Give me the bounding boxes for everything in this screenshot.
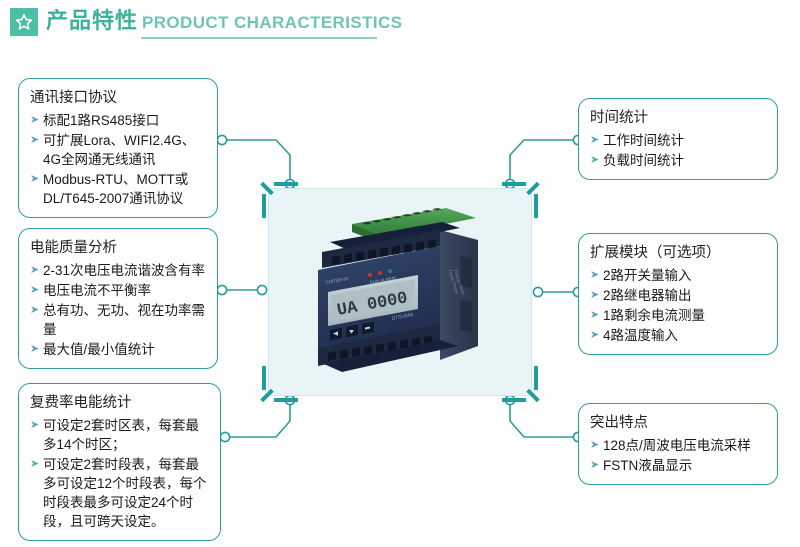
bullet-arrow-icon: ➤ [30, 131, 41, 150]
product-image-din-rail-energy-meter: compere RUN ALARM UA 0000 DTSU666 [300, 196, 500, 386]
bullet-item: ➤ 2-31次电压电流谐波含有率 [30, 261, 207, 280]
bullet-text: 4路温度输入 [603, 326, 767, 345]
bullet-item: ➤ 工作时间统计 [590, 131, 767, 150]
bullet-item: ➤ 最大值/最小值统计 [30, 340, 207, 359]
card-communication-protocol: 通讯接口协议 ➤ 标配1路RS485接口 ➤ 可扩展Lora、WIFI2.4G、… [18, 78, 218, 218]
card-title: 电能质量分析 [30, 238, 207, 259]
bullet-arrow-icon: ➤ [590, 456, 601, 475]
bullet-text: 128点/周波电压电流采样 [603, 436, 767, 455]
frame-corner-top-right [504, 182, 538, 216]
bullet-item: ➤ 可设定2套时段表，每套最多可设定12个时段表，每个时段表最多可设定24个时段… [30, 455, 210, 531]
bullet-text: 最大值/最小值统计 [43, 340, 207, 359]
bullet-arrow-icon: ➤ [590, 266, 601, 285]
bullet-item: ➤ 2路继电器输出 [590, 286, 767, 305]
bullet-arrow-icon: ➤ [30, 261, 41, 280]
card-expansion-module: 扩展模块（可选项） ➤ 2路开关量输入 ➤ 2路继电器输出 ➤ 1路剩余电流测量… [578, 233, 778, 355]
card-title: 复费率电能统计 [30, 393, 210, 414]
connector-node [217, 285, 226, 294]
card-title: 突出特点 [590, 413, 767, 434]
card-title: 扩展模块（可选项） [590, 243, 767, 264]
bullet-text: FSTN液晶显示 [603, 456, 767, 475]
bullet-item: ➤ 总有功、无功、视在功率需量 [30, 301, 207, 339]
bullet-arrow-icon: ➤ [590, 436, 601, 455]
bullet-item: ➤ 128点/周波电压电流采样 [590, 436, 767, 455]
bullet-arrow-icon: ➤ [590, 306, 601, 325]
frame-corner-top-left [262, 182, 296, 216]
bullet-text: 总有功、无功、视在功率需量 [43, 301, 207, 339]
bullet-text: 2路继电器输出 [603, 286, 767, 305]
card-multi-tariff-statistics: 复费率电能统计 ➤ 可设定2套时区表，每套最多14个时区； ➤ 可设定2套时段表… [18, 383, 221, 541]
bullet-item: ➤ 4路温度输入 [590, 326, 767, 345]
frame-corner-bottom-left [262, 368, 296, 402]
bullet-text: 可设定2套时段表，每套最多可设定12个时段表，每个时段表最多可设定24个时段，且… [43, 455, 210, 531]
bullet-text: 可设定2套时区表，每套最多14个时区； [43, 416, 210, 454]
connector-node [217, 135, 226, 144]
bullet-text: Modbus-RTU、MOTT或DL/T645-2007通讯协议 [43, 170, 207, 208]
bullet-text: 2-31次电压电流谐波含有率 [43, 261, 207, 280]
card-title: 通讯接口协议 [30, 88, 207, 109]
card-key-features: 突出特点 ➤ 128点/周波电压电流采样 ➤ FSTN液晶显示 [578, 403, 778, 485]
card-power-quality-analysis: 电能质量分析 ➤ 2-31次电压电流谐波含有率 ➤ 电压电流不平衡率 ➤ 总有功… [18, 228, 218, 369]
bullet-arrow-icon: ➤ [30, 340, 41, 359]
bullet-item: ➤ 电压电流不平衡率 [30, 281, 207, 300]
bullet-text: 2路开关量输入 [603, 266, 767, 285]
bullet-arrow-icon: ➤ [590, 286, 601, 305]
bullet-arrow-icon: ➤ [590, 151, 601, 170]
bullet-text: 1路剩余电流测量 [603, 306, 767, 325]
bullet-arrow-icon: ➤ [30, 301, 41, 320]
bullet-text: 可扩展Lora、WIFI2.4G、4G全网通无线通讯 [43, 131, 207, 169]
bullet-text: 标配1路RS485接口 [43, 111, 207, 130]
bullet-arrow-icon: ➤ [590, 326, 601, 345]
bullet-arrow-icon: ➤ [30, 455, 41, 474]
bullet-arrow-icon: ➤ [590, 131, 601, 150]
bullet-text: 电压电流不平衡率 [43, 281, 207, 300]
card-time-statistics: 时间统计 ➤ 工作时间统计 ➤ 负载时间统计 [578, 98, 778, 180]
bullet-item: ➤ 2路开关量输入 [590, 266, 767, 285]
bullet-item: ➤ FSTN液晶显示 [590, 456, 767, 475]
bullet-item: ➤ 1路剩余电流测量 [590, 306, 767, 325]
bullet-item: ➤ Modbus-RTU、MOTT或DL/T645-2007通讯协议 [30, 170, 207, 208]
bullet-item: ➤ 可扩展Lora、WIFI2.4G、4G全网通无线通讯 [30, 131, 207, 169]
bullet-text: 负载时间统计 [603, 151, 767, 170]
frame-corner-bottom-right [504, 368, 538, 402]
connector-node [220, 432, 229, 441]
bullet-item: ➤ 标配1路RS485接口 [30, 111, 207, 130]
bullet-item: ➤ 负载时间统计 [590, 151, 767, 170]
card-title: 时间统计 [590, 108, 767, 129]
bullet-arrow-icon: ➤ [30, 170, 41, 189]
bullet-arrow-icon: ➤ [30, 111, 41, 130]
bullet-arrow-icon: ➤ [30, 281, 41, 300]
product-characteristics-page: 产品特性 PRODUCT CHARACTERISTICS [0, 0, 800, 547]
bullet-item: ➤ 可设定2套时区表，每套最多14个时区； [30, 416, 210, 454]
bullet-text: 工作时间统计 [603, 131, 767, 150]
bullet-arrow-icon: ➤ [30, 416, 41, 435]
